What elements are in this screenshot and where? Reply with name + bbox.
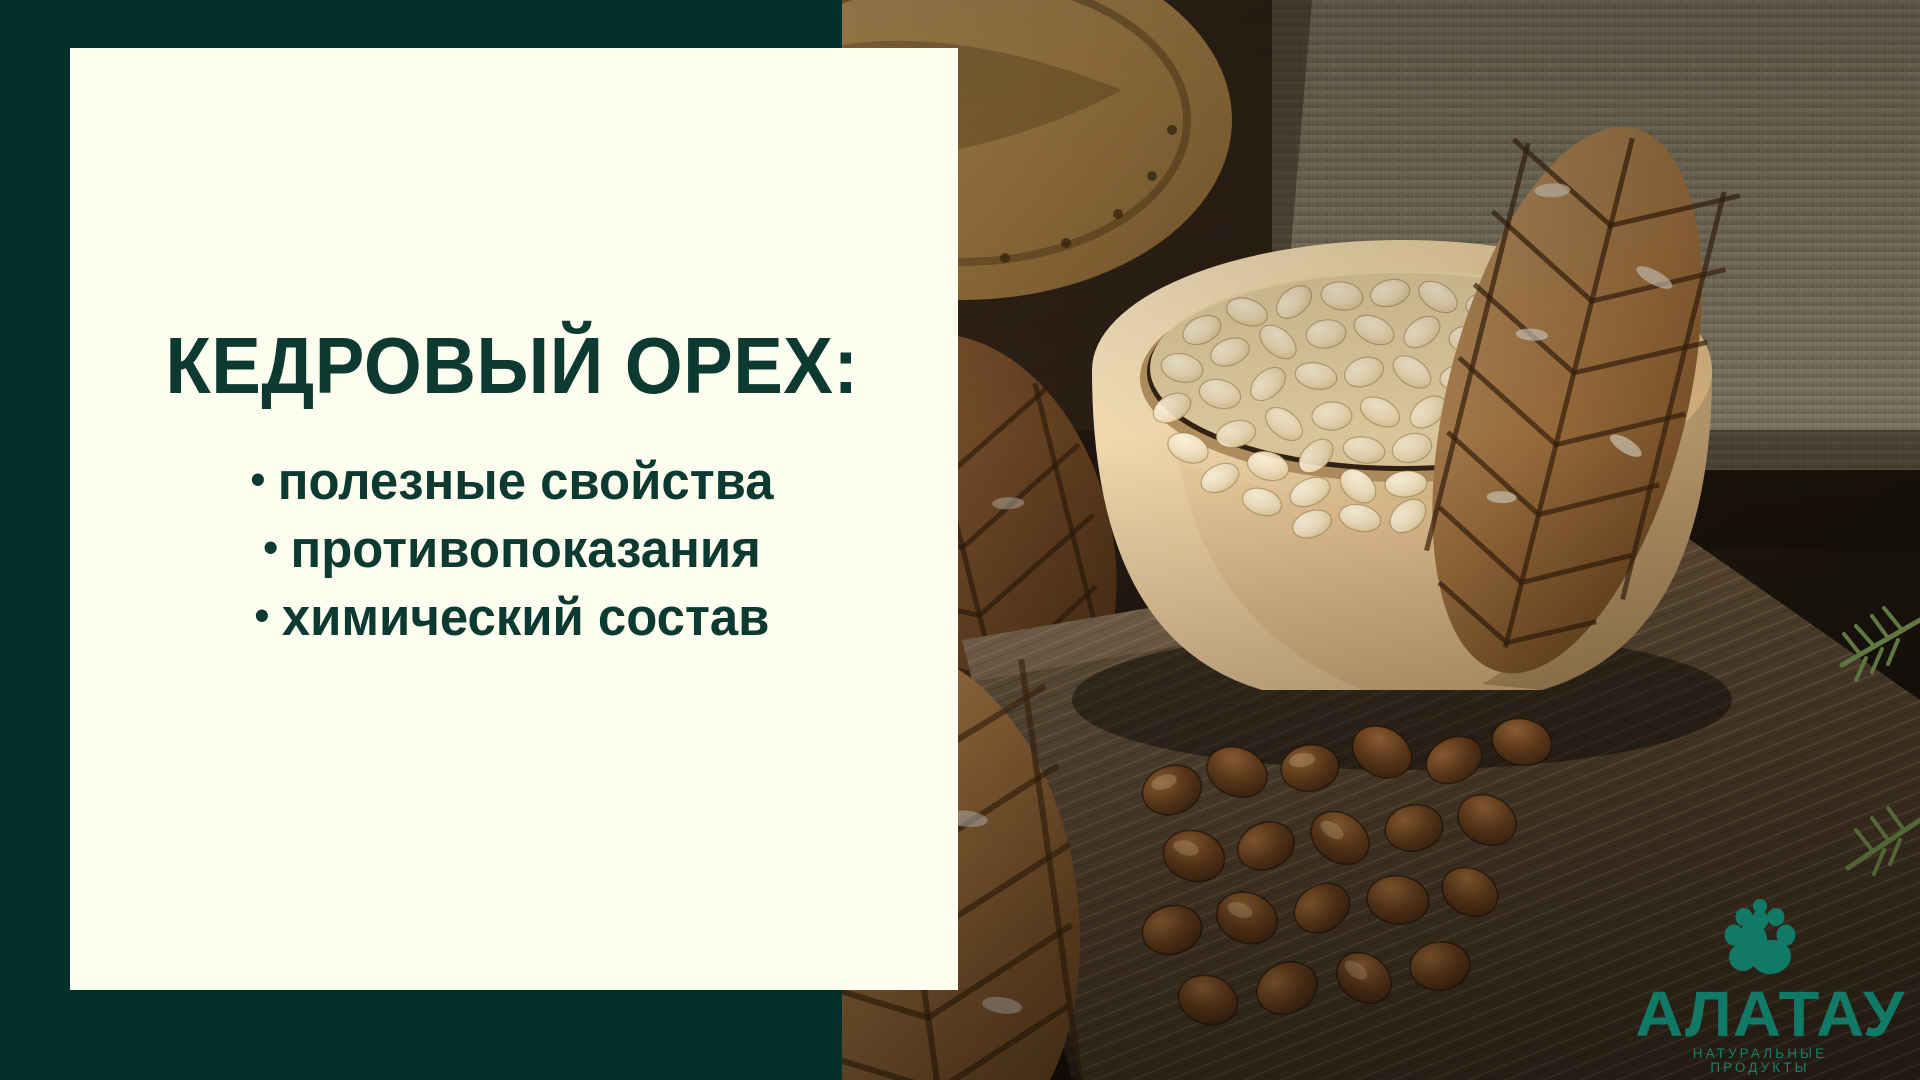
list-item-label: противопоказания (290, 520, 760, 579)
pine-cone-icon (1714, 899, 1806, 983)
list-item: •полезные свойства (105, 448, 919, 516)
brand-tagline: НАТУРАЛЬНЫЕ ПРОДУКТЫ (1640, 1047, 1880, 1074)
brand-logo: АЛАТАУ НАТУРАЛЬНЫЕ ПРОДУКТЫ (1640, 899, 1880, 1074)
list-item-label: полезные свойства (278, 452, 774, 511)
page-title: КЕДРОВЫЙ ОРЕХ: (118, 326, 907, 406)
list-item: •химический состав (105, 584, 919, 652)
brand-name: АЛАТАУ (1635, 985, 1885, 1044)
feature-list: •полезные свойства •противопоказания •хи… (88, 448, 936, 651)
bullet-icon: • (255, 588, 270, 644)
content-panel: КЕДРОВЫЙ ОРЕХ: •полезные свойства •проти… (70, 48, 958, 990)
list-item: •противопоказания (105, 516, 919, 584)
panel-content: КЕДРОВЫЙ ОРЕХ: •полезные свойства •проти… (70, 326, 958, 651)
bullet-icon: • (263, 520, 278, 576)
list-item-label: химический состав (282, 588, 770, 647)
bullet-icon: • (250, 452, 265, 508)
